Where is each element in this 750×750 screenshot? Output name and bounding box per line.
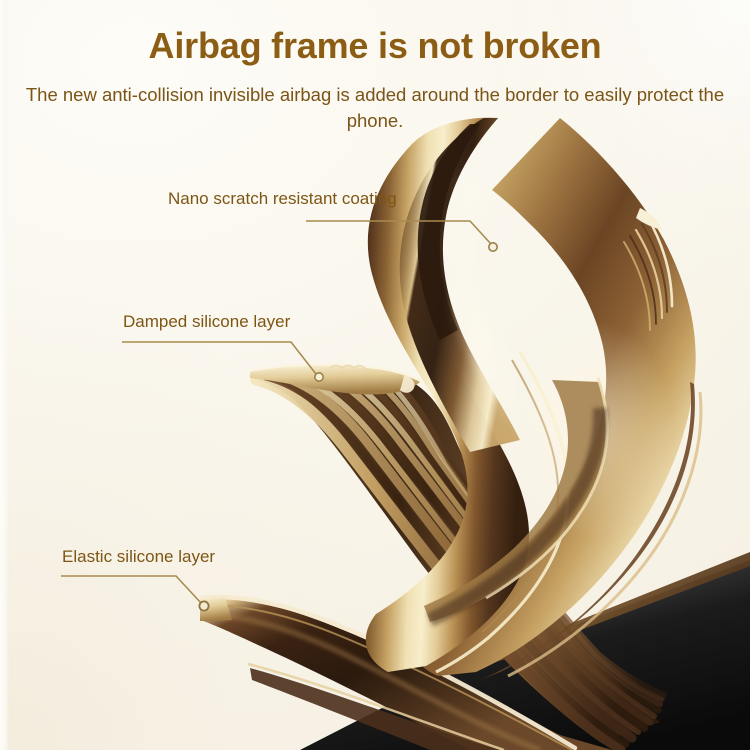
callout-label-nano-coating: Nano scratch resistant coating [168,190,397,207]
callout-label-elastic-silicone: Elastic silicone layer [62,548,215,565]
page-title: Airbag frame is not broken [0,27,750,65]
product-feature-graphic: Airbag frame is not broken The new anti-… [0,0,750,750]
page-subtitle: The new anti-collision invisible airbag … [10,82,740,135]
leader-line-elastic [61,576,209,611]
callout-label-damped-silicone: Damped silicone layer [123,313,290,330]
